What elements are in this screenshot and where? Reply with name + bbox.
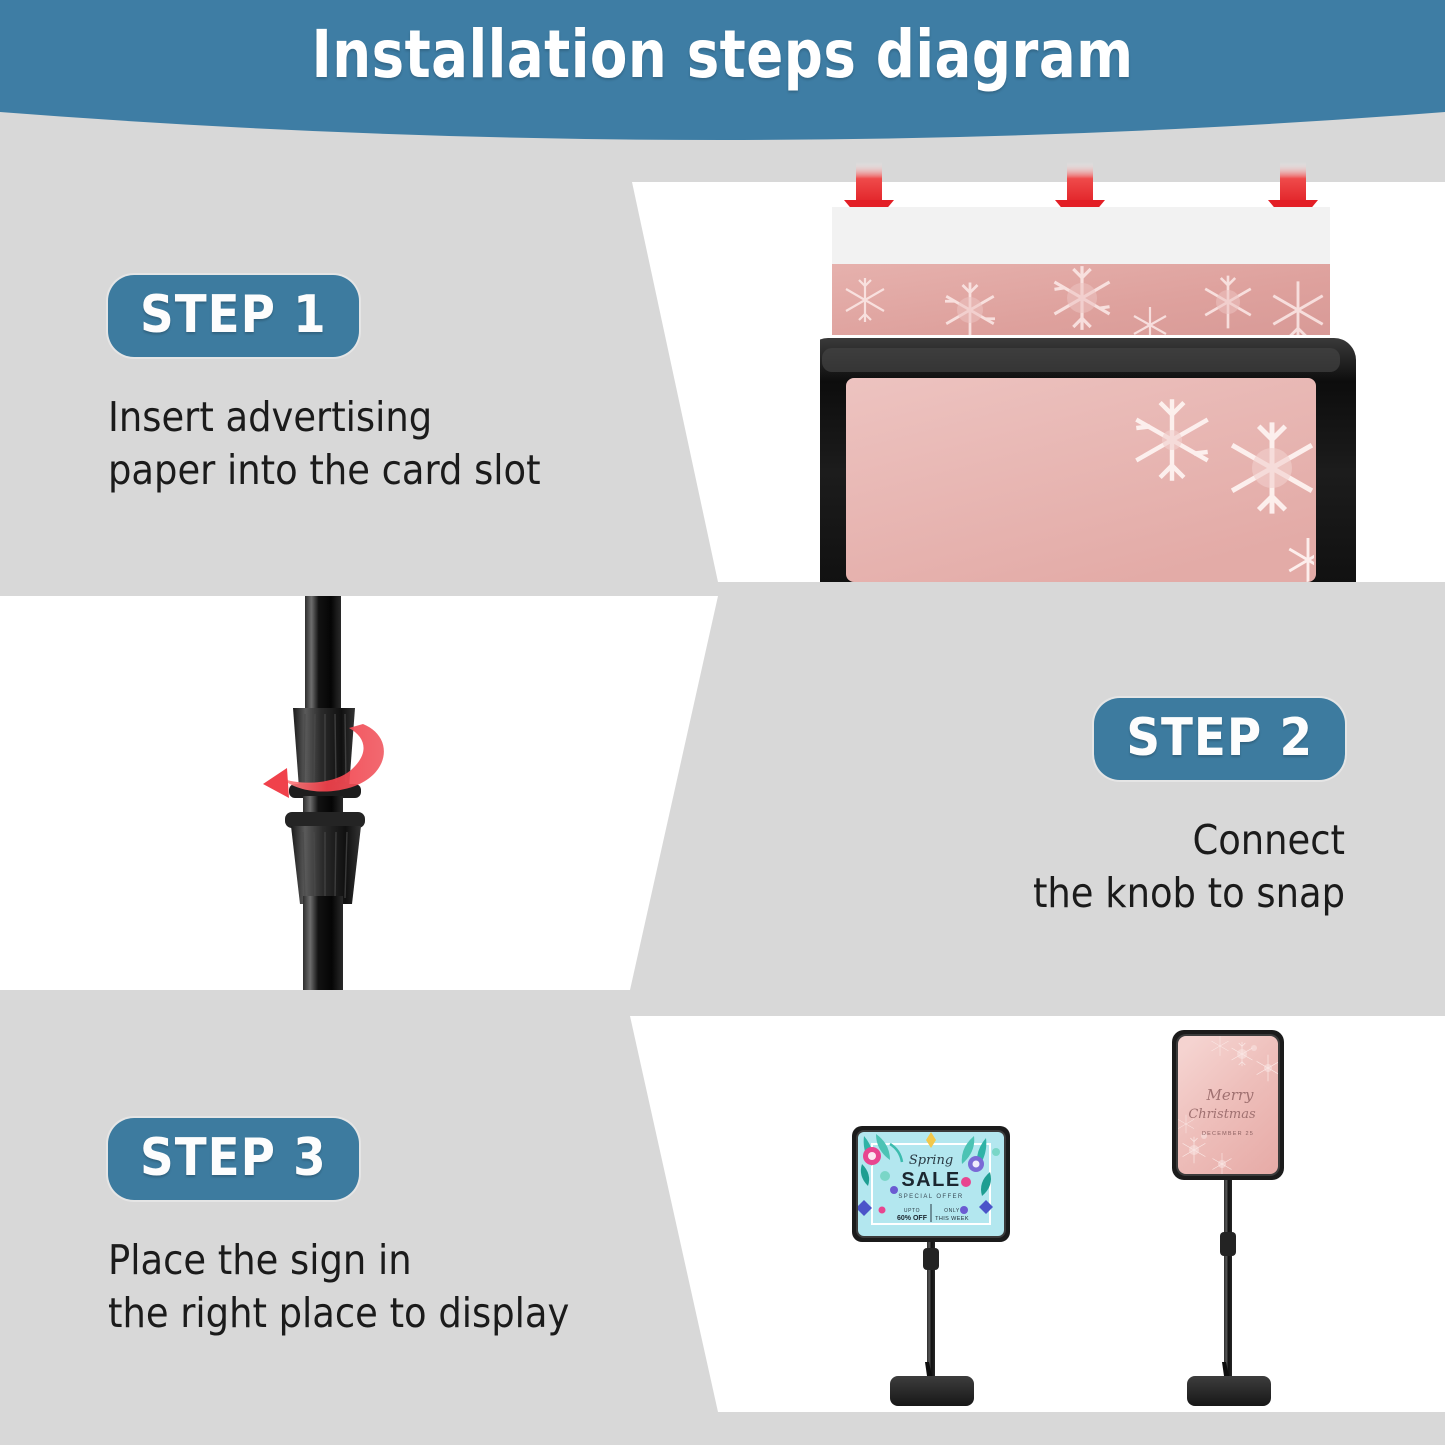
- pole-upper: [305, 596, 341, 714]
- stand-knob: [923, 1248, 939, 1270]
- step-2-illustration: [215, 596, 515, 990]
- sign-frame: [820, 338, 1356, 582]
- stand-knob: [1220, 1232, 1236, 1256]
- header-banner: Installation steps diagram: [0, 0, 1445, 152]
- step-1-text-block: STEP 1 Insert advertising paper into the…: [108, 275, 541, 498]
- pole-lower: [303, 896, 343, 990]
- step-1-badge: STEP 1: [108, 275, 359, 357]
- step-2-badge: STEP 2: [1094, 698, 1345, 780]
- stand-base: [890, 1376, 974, 1406]
- svg-text:60% OFF: 60% OFF: [897, 1215, 928, 1222]
- bottom-band: [0, 1412, 1445, 1445]
- step-2-text-block: STEP 2 Connect the knob to snap: [745, 698, 1345, 921]
- svg-text:UPTO: UPTO: [904, 1208, 920, 1214]
- sign-stand-right: Merry Christmas DECEMBER 25: [1172, 1030, 1284, 1406]
- step-3-description: Place the sign in the right place to dis…: [108, 1234, 569, 1341]
- advertising-paper: [832, 207, 1330, 343]
- stand-pole: [1224, 1174, 1232, 1388]
- knob-lower: [291, 826, 361, 904]
- step-1-illustration: [820, 150, 1380, 582]
- svg-text:SPECIAL OFFER: SPECIAL OFFER: [898, 1194, 963, 1200]
- step-3-panel: Spring SALE SPECIAL OFFER UPTO 60% OFF O…: [0, 1004, 1445, 1414]
- svg-text:Merry: Merry: [1205, 1086, 1254, 1104]
- sign-stand-left: Spring SALE SPECIAL OFFER UPTO 60% OFF O…: [852, 1126, 1010, 1406]
- step-1-description: Insert advertising paper into the card s…: [108, 391, 541, 498]
- svg-text:DECEMBER 25: DECEMBER 25: [1202, 1131, 1254, 1137]
- svg-text:SALE: SALE: [901, 1169, 960, 1191]
- step-2-panel: STEP 2 Connect the knob to snap: [0, 596, 1445, 990]
- step-2-description: Connect the knob to snap: [745, 814, 1345, 921]
- svg-text:ONLY: ONLY: [944, 1208, 960, 1214]
- step-3-badge: STEP 3: [108, 1118, 359, 1200]
- svg-text:THIS WEEK: THIS WEEK: [935, 1216, 969, 1222]
- svg-text:Spring: Spring: [909, 1153, 953, 1168]
- step-3-text-block: STEP 3 Place the sign in the right place…: [108, 1118, 569, 1341]
- page-title: Installation steps diagram: [58, 16, 1387, 93]
- stand-base: [1187, 1376, 1271, 1406]
- svg-text:Christmas: Christmas: [1188, 1107, 1256, 1122]
- step-1-panel: STEP 1 Insert advertising paper into the…: [0, 150, 1445, 582]
- step-3-illustration: Spring SALE SPECIAL OFFER UPTO 60% OFF O…: [790, 1004, 1410, 1414]
